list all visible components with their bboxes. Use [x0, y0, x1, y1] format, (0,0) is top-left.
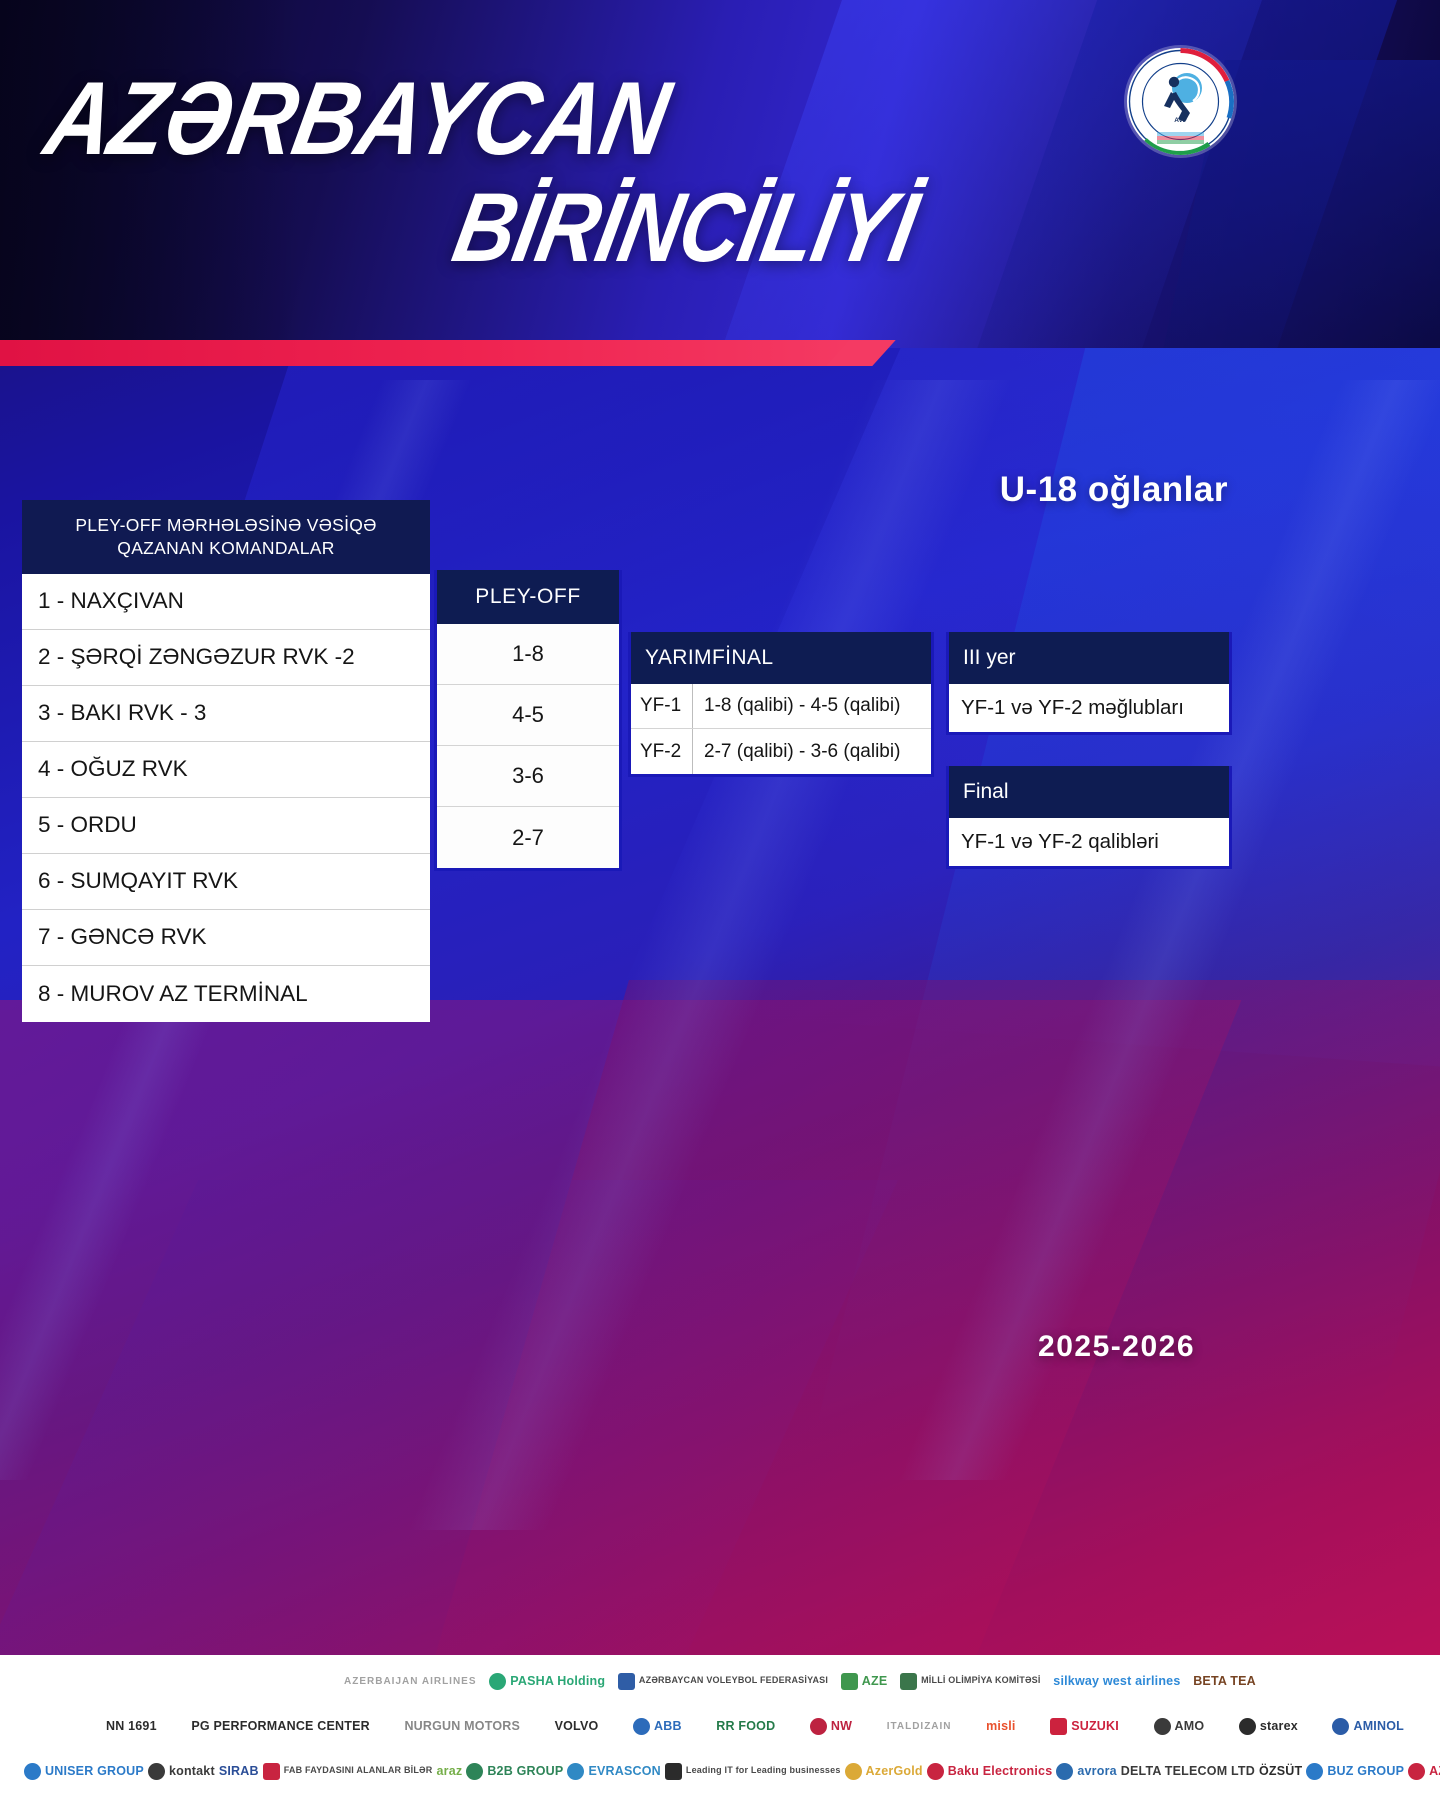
sponsor-logo: NN 1691 — [106, 1719, 157, 1733]
sponsor-name: misli — [986, 1719, 1016, 1733]
sponsor-row-1: AZERBAIJAN AIRLINESPASHA HoldingAZƏRBAYC… — [14, 1660, 1426, 1702]
sponsor-logo: AzerGold — [845, 1763, 923, 1780]
background-streak-3 — [898, 380, 1440, 1480]
table-row: 8 - MUROV AZ TERMİNAL — [22, 966, 430, 1022]
table-row: 1 - NAXÇIVAN — [22, 574, 430, 630]
sponsor-name: NN 1691 — [106, 1719, 157, 1733]
svg-text:AVF: AVF — [1174, 117, 1187, 124]
sponsor-logo: AMO — [1154, 1718, 1205, 1735]
semifinal-code: YF-2 — [631, 729, 693, 774]
sponsor-name: NW — [831, 1719, 852, 1733]
sponsor-mark-icon — [1154, 1718, 1171, 1735]
sponsor-logo: RR FOOD — [716, 1719, 775, 1733]
sponsor-name: FAB FAYDASINI ALANLAR BİLƏR — [284, 1766, 433, 1775]
sponsor-name: VOLVO — [555, 1719, 599, 1733]
sponsor-name: AZƏRBAYCAN VOLEYBOL FEDERASİYASI — [639, 1676, 828, 1685]
sponsor-name: B2B GROUP — [487, 1764, 563, 1778]
semifinal-table: YARIMFİNAL YF-1 1-8 (qalibi) - 4-5 (qali… — [628, 632, 934, 777]
sponsor-mark-icon — [810, 1718, 827, 1735]
sponsor-logo: ITALDIZAIN — [887, 1721, 952, 1732]
sponsor-name: AMINOL — [1353, 1719, 1404, 1733]
sponsor-mark-icon — [24, 1763, 41, 1780]
final-table: Final YF-1 və YF-2 qalibləri — [946, 766, 1232, 869]
poster-root: AZƏRBAYCAN BİRİNCİLİYİ AVF U-18 oğlanlar… — [0, 0, 1440, 1798]
sponsor-mark-icon — [1056, 1763, 1073, 1780]
sponsor-logo: AZƏRBAYCAN VOLEYBOL FEDERASİYASI — [618, 1673, 828, 1690]
sponsor-logo: Baku Electronics — [927, 1763, 1053, 1780]
sponsor-name: AZERBAIJAN AIRLINES — [344, 1676, 477, 1687]
playoff-table: PLEY-OFF 1-8 4-5 3-6 2-7 — [434, 570, 622, 871]
sponsor-logo: FAB FAYDASINI ALANLAR BİLƏR — [263, 1763, 433, 1780]
sponsor-logo: ÖZSÜT — [1259, 1764, 1302, 1778]
season-label: 2025-2026 — [1038, 1330, 1195, 1364]
sponsor-bar: AZERBAIJAN AIRLINESPASHA HoldingAZƏRBAYC… — [0, 1655, 1440, 1798]
sponsor-mark-icon — [567, 1763, 584, 1780]
accent-red-bar — [0, 340, 862, 366]
sponsor-name: BETA TEA — [1193, 1674, 1256, 1688]
third-place-header: III yer — [949, 632, 1229, 684]
sponsor-name: PASHA Holding — [510, 1674, 605, 1688]
sponsor-mark-icon — [1050, 1718, 1067, 1735]
table-row: YF-1 və YF-2 qalibləri — [949, 818, 1229, 866]
table-row: YF-1 və YF-2 məğlubları — [949, 684, 1229, 732]
sponsor-mark-icon — [1408, 1763, 1425, 1780]
sponsor-logo: NW — [810, 1718, 852, 1735]
sponsor-name: AMO — [1175, 1719, 1205, 1733]
sponsor-logo: araz — [437, 1764, 463, 1778]
sponsor-name: araz — [437, 1764, 463, 1778]
sponsor-mark-icon — [148, 1763, 165, 1780]
sponsor-name: AzerGold — [866, 1764, 923, 1778]
final-header: Final — [949, 766, 1229, 818]
federation-logo: AVF — [1127, 48, 1234, 155]
sponsor-name: RR FOOD — [716, 1719, 775, 1733]
sponsor-name: kontakt — [169, 1764, 215, 1778]
table-row: 4-5 — [437, 685, 619, 746]
table-row: 1-8 — [437, 624, 619, 685]
sponsor-logo: B2B GROUP — [466, 1763, 563, 1780]
sponsor-name: UNISER GROUP — [45, 1764, 144, 1778]
table-row: YF-2 2-7 (qalibi) - 3-6 (qalibi) — [631, 729, 931, 774]
sponsor-name: EVRASCON — [588, 1764, 660, 1778]
sponsor-logo: NURGUN MOTORS — [404, 1719, 520, 1733]
sponsor-mark-icon — [466, 1763, 483, 1780]
sponsor-name: ÖZSÜT — [1259, 1764, 1302, 1778]
playoff-header: PLEY-OFF — [437, 570, 619, 624]
table-row: 4 - OĞUZ RVK — [22, 742, 430, 798]
sponsor-logo: SUZUKI — [1050, 1718, 1119, 1735]
sponsor-row-3: UNISER GROUPkontaktSIRABFAB FAYDASINI AL… — [14, 1750, 1426, 1792]
sponsor-logo: ABB — [633, 1718, 682, 1735]
sponsor-mark-icon — [1239, 1718, 1256, 1735]
sponsor-logo: SIRAB — [219, 1764, 259, 1778]
sponsor-logo: misli — [986, 1719, 1016, 1733]
table-row: 2 - ŞƏRQİ ZƏNGƏZUR RVK -2 — [22, 630, 430, 686]
sponsor-name: SUZUKI — [1071, 1719, 1119, 1733]
sponsor-name: SIRAB — [219, 1764, 259, 1778]
sponsor-name: starex — [1260, 1719, 1298, 1733]
background-streak-2 — [408, 380, 1013, 1530]
sponsor-mark-icon — [665, 1763, 682, 1780]
sponsor-name: Baku Electronics — [948, 1764, 1053, 1778]
page-title-line1: AZƏRBAYCAN — [39, 72, 676, 168]
semifinal-header: YARIMFİNAL — [631, 632, 931, 684]
sponsor-mark-icon — [1332, 1718, 1349, 1735]
sponsor-logo: EVRASCON — [567, 1763, 660, 1780]
sponsor-logo: Leading IT for Leading businesses — [665, 1763, 841, 1780]
category-heading: U-18 oğlanlar — [1000, 470, 1228, 510]
sponsor-name: silkway west airlines — [1053, 1674, 1180, 1688]
sponsor-mark-icon — [900, 1673, 917, 1690]
sponsor-logo: starex — [1239, 1718, 1298, 1735]
page-title-line2: BİRİNCİLİYİ — [447, 182, 923, 272]
sponsor-mark-icon — [263, 1763, 280, 1780]
sponsor-logo: UNISER GROUP — [24, 1763, 144, 1780]
sponsor-mark-icon — [841, 1673, 858, 1690]
sponsor-logo: VOLVO — [555, 1719, 599, 1733]
table-row: 5 - ORDU — [22, 798, 430, 854]
sponsor-name: AZƏR TREYD — [1429, 1764, 1440, 1778]
sponsor-logo: silkway west airlines — [1053, 1674, 1180, 1688]
semifinal-match: 1-8 (qalibi) - 4-5 (qalibi) — [693, 695, 931, 717]
sponsor-logo: PG PERFORMANCE CENTER — [191, 1719, 370, 1733]
sponsor-mark-icon — [618, 1673, 635, 1690]
semifinal-code: YF-1 — [631, 684, 693, 728]
sponsor-logo: AZƏR TREYD — [1408, 1763, 1440, 1780]
qualified-teams-header: PLEY-OFF MƏRHƏLƏSİNƏ VƏSİQƏ QAZANAN KOMA… — [22, 500, 430, 574]
sponsor-name: BUZ GROUP — [1327, 1764, 1404, 1778]
sponsor-logo: BUZ GROUP — [1306, 1763, 1404, 1780]
sponsor-name: DELTA TELECOM LTD — [1121, 1764, 1255, 1778]
sponsor-name: ABB — [654, 1719, 682, 1733]
sponsor-logo: PASHA Holding — [489, 1673, 605, 1690]
sponsor-name: avrora — [1077, 1764, 1116, 1778]
table-row: 6 - SUMQAYIT RVK — [22, 854, 430, 910]
third-place-table: III yer YF-1 və YF-2 məğlubları — [946, 632, 1232, 735]
sponsor-logo: AZERBAIJAN AIRLINES — [344, 1676, 477, 1687]
sponsor-name: AZE — [862, 1674, 888, 1688]
sponsor-logo: BETA TEA — [1193, 1674, 1256, 1688]
table-row: 3-6 — [437, 746, 619, 807]
sponsor-logo: AZE — [841, 1673, 888, 1690]
sponsor-logo: kontakt — [148, 1763, 215, 1780]
sponsor-mark-icon — [845, 1763, 862, 1780]
sponsor-logo: MİLLİ OLİMPİYA KOMİTƏSİ — [900, 1673, 1040, 1690]
sponsor-name: MİLLİ OLİMPİYA KOMİTƏSİ — [921, 1676, 1040, 1685]
sponsor-row-2: NN 1691PG PERFORMANCE CENTERNURGUN MOTOR… — [14, 1705, 1426, 1747]
background-facet-e — [411, 980, 1440, 1740]
sponsor-mark-icon — [1306, 1763, 1323, 1780]
sponsor-name: NURGUN MOTORS — [404, 1719, 520, 1733]
sponsor-logo: DELTA TELECOM LTD — [1121, 1764, 1255, 1778]
sponsor-logo: avrora — [1056, 1763, 1116, 1780]
table-row: 3 - BAKI RVK - 3 — [22, 686, 430, 742]
semifinal-match: 2-7 (qalibi) - 3-6 (qalibi) — [693, 741, 931, 763]
sponsor-name: Leading IT for Leading businesses — [686, 1766, 841, 1775]
sponsor-name: PG PERFORMANCE CENTER — [191, 1719, 370, 1733]
sponsor-mark-icon — [489, 1673, 506, 1690]
sponsor-mark-icon — [927, 1763, 944, 1780]
sponsor-name: ITALDIZAIN — [887, 1721, 952, 1732]
sponsor-mark-icon — [633, 1718, 650, 1735]
table-row: 2-7 — [437, 807, 619, 868]
table-row: YF-1 1-8 (qalibi) - 4-5 (qalibi) — [631, 684, 931, 729]
sponsor-logo: AMINOL — [1332, 1718, 1404, 1735]
table-row: 7 - GƏNCƏ RVK — [22, 910, 430, 966]
qualified-teams-table: PLEY-OFF MƏRHƏLƏSİNƏ VƏSİQƏ QAZANAN KOMA… — [22, 500, 430, 1022]
